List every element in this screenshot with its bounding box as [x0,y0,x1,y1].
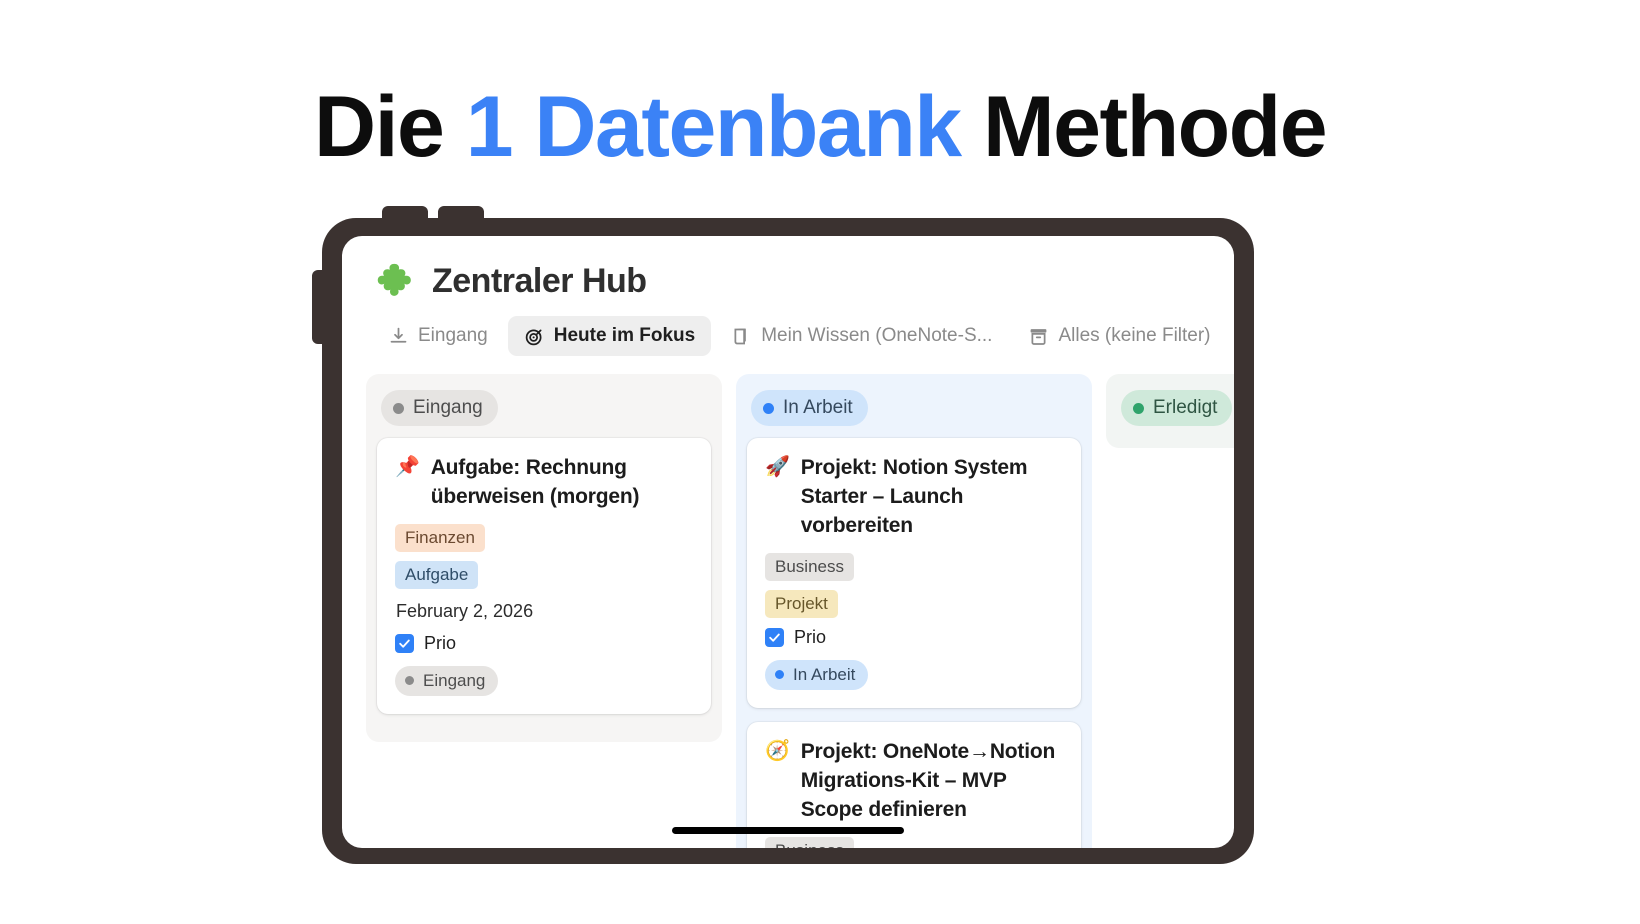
status-badge[interactable]: In Arbeit [751,390,868,426]
card-title: Aufgabe: Rechnung überweisen (morgen) [431,454,693,512]
volume-down-button[interactable] [438,206,484,222]
status-badge[interactable]: Erledigt [1121,390,1232,426]
card-status-badge[interactable]: Eingang [395,666,498,696]
home-indicator[interactable] [672,827,904,834]
status-badge[interactable]: Eingang [381,390,498,426]
card-prio-checkbox-row[interactable]: Prio [395,633,693,654]
tab-heute-im-fokus[interactable]: Heute im Fokus [508,316,711,356]
green-puzzle-piece-icon [376,260,418,302]
column-title: Erledigt [1153,397,1217,419]
card-notion-system-starter[interactable]: 🚀 Projekt: Notion System Starter – Launc… [747,438,1081,708]
card-date: February 2, 2026 [396,601,693,622]
compass-icon: 🧭 [765,738,790,766]
card-prio-checkbox-row[interactable]: Prio [765,627,1063,648]
headline-accent: 1 Datenbank [466,79,961,175]
card-title: Projekt: Notion System Starter – Launch … [801,454,1063,541]
board-column-in-arbeit: In Arbeit 🚀 Projekt: Notion System Start… [736,374,1092,848]
book-stack-icon [731,326,752,347]
tag-business[interactable]: Business [765,553,854,581]
tag-projekt[interactable]: Projekt [765,590,838,618]
status-dot-icon [393,403,404,414]
tab-mein-wissen-label: Mein Wissen (OneNote-S... [761,325,992,347]
headline-part-after: Methode [961,79,1326,175]
card-tags: Finanzen Aufgabe [395,524,693,598]
pushpin-icon: 📌 [395,454,420,482]
status-dot-icon [763,403,774,414]
kanban-board: Eingang 📌 Aufgabe: Rechnung überweisen (… [342,366,1234,848]
checkbox-label: Prio [424,633,456,654]
download-inbox-icon [388,326,409,347]
column-title: Eingang [413,397,483,419]
column-header-erledigt: Erledigt [1121,390,1234,426]
card-title: Projekt: OneNote→Notion Migrations-Kit –… [801,738,1063,825]
tab-alles[interactable]: Alles (keine Filter) [1012,316,1226,356]
device-screen: Zentraler Hub Eingang Heute im Fokus [342,236,1234,848]
tab-eingang[interactable]: Eingang [372,316,504,356]
status-dot-icon [405,676,414,685]
poster-canvas: Die 1 Datenbank Methode Zentraler Hub [0,0,1640,924]
headline-part-before: Die [314,79,466,175]
view-tabs: Eingang Heute im Fokus Mein Wissen (OneN… [342,302,1234,366]
status-dot-icon [775,670,784,679]
card-tags: Business Projekt [765,837,1063,848]
checkbox-checked-icon[interactable] [395,634,414,653]
checkbox-checked-icon[interactable] [765,628,784,647]
status-dot-icon [1133,403,1144,414]
tab-mein-wissen[interactable]: Mein Wissen (OneNote-S... [715,316,1008,356]
board-column-eingang: Eingang 📌 Aufgabe: Rechnung überweisen (… [366,374,722,742]
tag-business[interactable]: Business [765,837,854,848]
app-header: Zentraler Hub [342,236,1234,302]
tablet-device: Zentraler Hub Eingang Heute im Fokus [322,218,1254,864]
column-header-in-arbeit: In Arbeit [751,390,1081,426]
column-title: In Arbeit [783,397,853,419]
tab-alles-label: Alles (keine Filter) [1058,325,1210,347]
card-title-row: 🚀 Projekt: Notion System Starter – Launc… [765,454,1063,541]
app-title: Zentraler Hub [432,262,647,301]
card-title-row: 🧭 Projekt: OneNote→Notion Migrations-Kit… [765,738,1063,825]
card-tags: Business Projekt [765,553,1063,627]
tab-heute-im-fokus-label: Heute im Fokus [554,325,695,347]
target-icon [524,326,545,347]
board-column-erledigt: Erledigt [1106,374,1234,448]
card-title-row: 📌 Aufgabe: Rechnung überweisen (morgen) [395,454,693,512]
page-title: Die 1 Datenbank Methode [0,78,1640,177]
power-button[interactable] [312,270,326,344]
tag-finanzen[interactable]: Finanzen [395,524,485,552]
card-status-badge[interactable]: In Arbeit [765,660,868,690]
rocket-icon: 🚀 [765,454,790,482]
archive-box-icon [1028,326,1049,347]
checkbox-label: Prio [794,627,826,648]
card-status-label: Eingang [423,671,485,691]
card-status-label: In Arbeit [793,665,855,685]
tab-eingang-label: Eingang [418,325,488,347]
volume-up-button[interactable] [382,206,428,222]
column-header-eingang: Eingang [381,390,711,426]
tag-aufgabe[interactable]: Aufgabe [395,561,478,589]
card-rechnung-ueberweisen[interactable]: 📌 Aufgabe: Rechnung überweisen (morgen) … [377,438,711,714]
